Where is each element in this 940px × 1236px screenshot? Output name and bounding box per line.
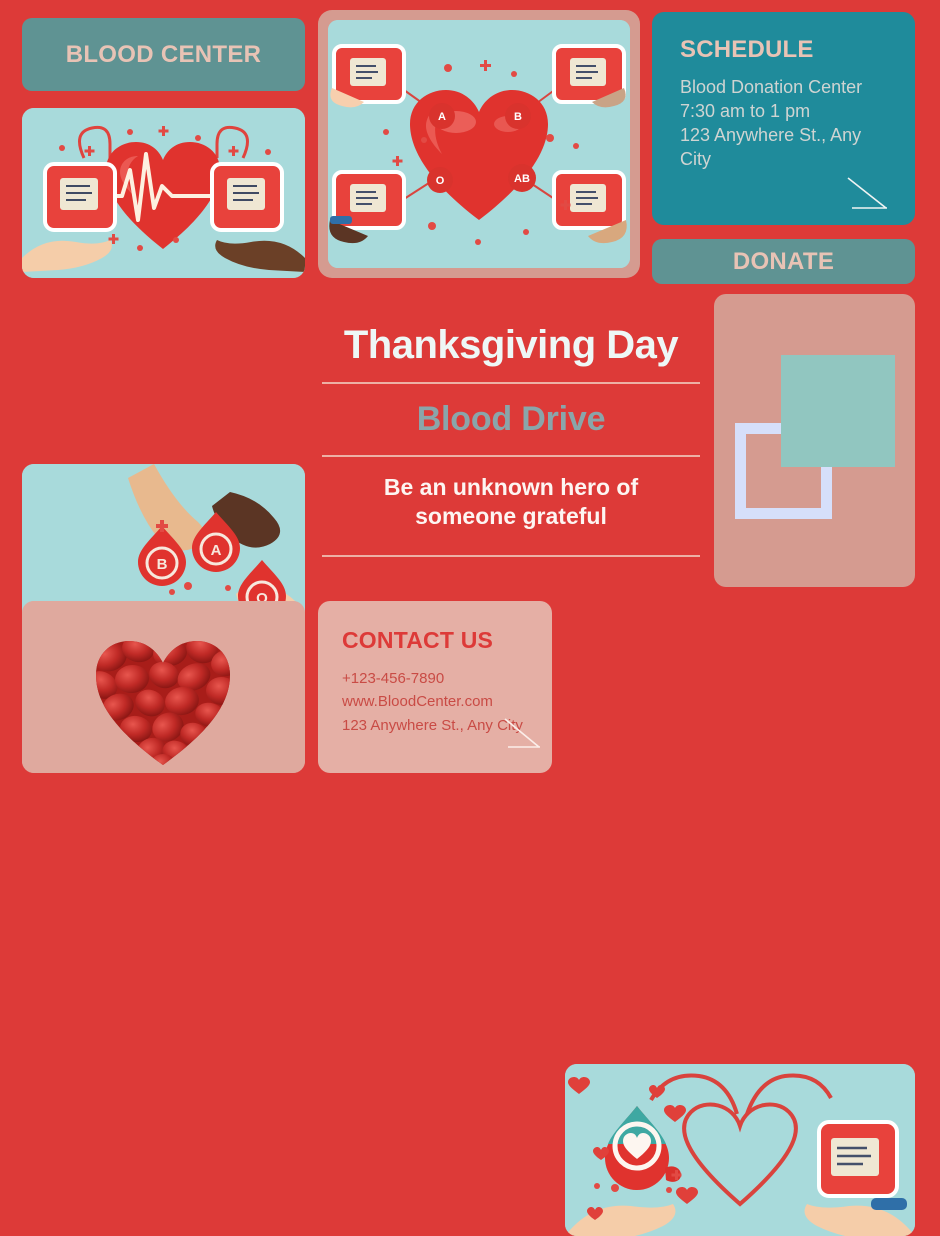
photo-hands-drop <box>565 1064 915 1236</box>
svg-text:B: B <box>157 556 168 573</box>
contact-website[interactable]: www.BloodCenter.com <box>342 690 552 713</box>
schedule-line-hours: 7:30 am to 1 pm <box>680 100 889 124</box>
contact-title: CONTACT US <box>342 627 552 654</box>
photo-bags-heart-frame: A B O AB <box>318 10 640 278</box>
schedule-line-address: 123 Anywhere St., Any City <box>680 124 889 172</box>
svg-text:O: O <box>436 175 445 187</box>
poster-canvas: BLOOD CENTER A <box>0 0 940 788</box>
divider-top <box>322 382 700 384</box>
shapes-panel <box>714 294 915 587</box>
hands-heart-illustration <box>22 108 305 278</box>
hands-drop-illustration <box>565 1064 915 1236</box>
brand-label: BLOOD CENTER <box>66 41 262 69</box>
page-title: Thanksgiving Day <box>344 324 678 366</box>
center-text-block: Thanksgiving Day Blood Drive Be an unkno… <box>318 294 704 587</box>
cells-heart-illustration <box>22 601 305 773</box>
divider-bottom <box>322 555 700 557</box>
schedule-title: SCHEDULE <box>680 36 889 64</box>
schedule-line-center: Blood Donation Center <box>680 76 889 100</box>
tagline: Be an unknown hero of someone grateful <box>346 473 676 531</box>
arrow-down-right-icon <box>502 716 544 752</box>
svg-text:A: A <box>211 542 222 559</box>
page-subtitle: Blood Drive <box>417 400 606 439</box>
arrow-down-right-icon <box>845 175 891 213</box>
bags-heart-illustration: A B O AB <box>328 20 630 268</box>
photo-cells-heart <box>22 601 305 773</box>
divider-middle <box>322 455 700 457</box>
photo-hands-heart <box>22 108 305 278</box>
brand-header[interactable]: BLOOD CENTER <box>22 18 305 91</box>
svg-text:B: B <box>514 111 522 123</box>
donate-label: DONATE <box>733 248 834 276</box>
contact-card[interactable]: CONTACT US +123-456-7890 www.BloodCenter… <box>318 601 552 773</box>
donate-button[interactable]: DONATE <box>652 239 915 284</box>
contact-phone[interactable]: +123-456-7890 <box>342 667 552 690</box>
schedule-card[interactable]: SCHEDULE Blood Donation Center 7:30 am t… <box>652 12 915 225</box>
schedule-details: Blood Donation Center 7:30 am to 1 pm 12… <box>680 76 889 172</box>
photo-bags-heart: A B O AB <box>328 20 630 268</box>
svg-text:AB: AB <box>514 173 530 185</box>
sage-square-shape <box>781 355 895 467</box>
svg-text:A: A <box>438 111 446 123</box>
